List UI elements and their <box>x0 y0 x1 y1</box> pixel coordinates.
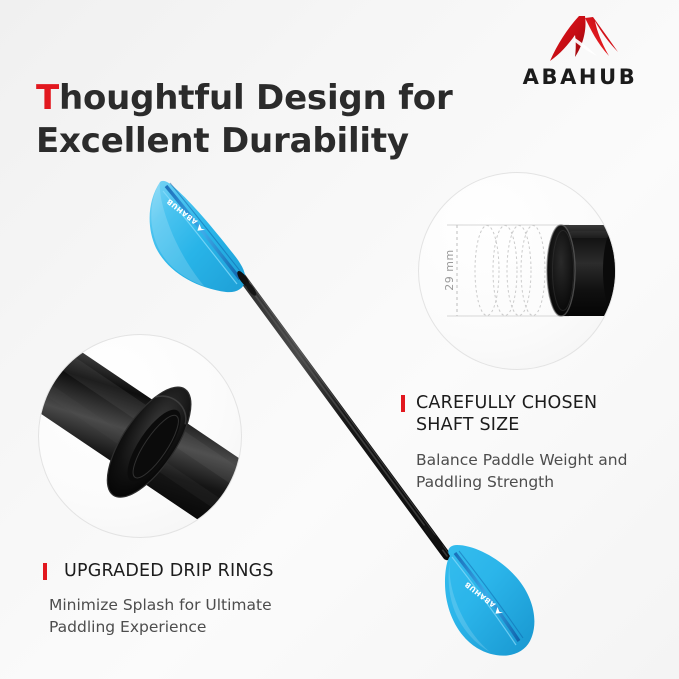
drip-ring-inset <box>38 334 242 538</box>
callout-sub-line1: Minimize Splash for Ultimate <box>49 596 272 614</box>
drip-ring-upper <box>235 269 258 297</box>
brand-logo: ABAHUB <box>505 12 655 88</box>
callout-title: UPGRADED DRIP RINGS <box>64 560 274 582</box>
drip-ring-diagram <box>39 335 241 537</box>
headline-accent-letter: T <box>36 78 59 118</box>
paddle-blade-upper: ABAHUB <box>150 181 246 292</box>
callout-subtitle: Minimize Splash for Ultimate Paddling Ex… <box>49 594 343 638</box>
red-marker-bar <box>401 395 405 412</box>
paddle-blade-lower: ABAHUB <box>445 545 534 656</box>
callout-header: UPGRADED DRIP RINGS <box>43 560 343 582</box>
callout-subtitle: Balance Paddle Weight and Paddling Stren… <box>416 449 667 493</box>
callout-sub-line2: Paddling Strength <box>416 473 554 491</box>
blade-logo-text-upper: ABAHUB <box>165 197 200 227</box>
drip-ring-lower <box>422 524 445 552</box>
blade-logo-text-lower: ABAHUB <box>463 580 498 610</box>
callout-title-line1: UPGRADED DRIP RINGS <box>64 561 274 581</box>
shaft-measurement-label: 29 mm <box>443 249 456 290</box>
product-feature-graphic: ABAHUB Thoughtful Design for Excellent D… <box>0 0 679 679</box>
shaft-cylinder-icon <box>547 225 615 316</box>
callout-title: CAREFULLY CHOSEN SHAFT SIZE <box>416 392 597 437</box>
brand-name: ABAHUB <box>505 67 655 88</box>
headline-line2: Excellent Durability <box>36 121 409 161</box>
callout-sub-line1: Balance Paddle Weight and <box>416 451 627 469</box>
shaft-diameter-diagram: 29 mm <box>419 173 615 369</box>
callout-sub-line2: Paddling Experience <box>49 618 206 636</box>
callout-title-line1: CAREFULLY CHOSEN <box>416 393 597 413</box>
abahub-swoosh-icon <box>505 12 655 66</box>
red-marker-bar <box>43 563 47 580</box>
callout-header: CAREFULLY CHOSEN SHAFT SIZE <box>401 392 667 437</box>
callout-carefully-chosen-shaft-size: CAREFULLY CHOSEN SHAFT SIZE Balance Padd… <box>401 392 667 493</box>
callout-title-line2: SHAFT SIZE <box>416 415 520 435</box>
shaft-diameter-inset: 29 mm <box>418 172 616 370</box>
headline-line1: houghtful Design for <box>59 78 453 118</box>
callout-upgraded-drip-rings: UPGRADED DRIP RINGS Minimize Splash for … <box>43 560 343 638</box>
page-title: Thoughtful Design for Excellent Durabili… <box>36 77 506 163</box>
